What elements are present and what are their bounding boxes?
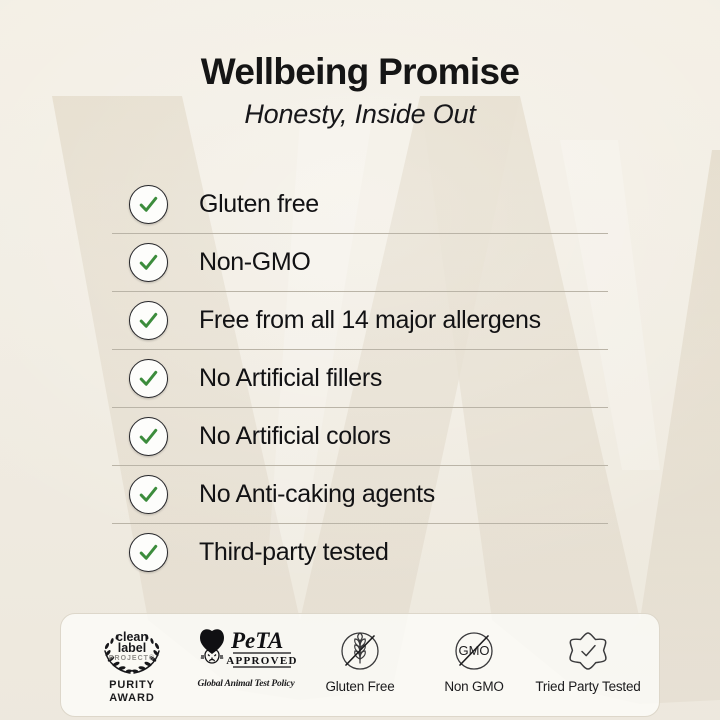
header: Wellbeing Promise Honesty, Inside Out [0, 52, 720, 130]
check-circle-icon [129, 243, 168, 282]
badge-peta-approved: PeTA APPROVED Global Animal Test Policy [189, 625, 303, 690]
wheat-crossed-out-icon [336, 625, 384, 677]
check-circle-icon [129, 359, 168, 398]
list-item-label: No Artificial colors [199, 422, 391, 451]
list-item: No Anti-caking agents [112, 466, 608, 524]
list-item-label: No Artificial fillers [199, 364, 382, 393]
list-item: No Artificial fillers [112, 350, 608, 408]
clean-label-mark-line2: label [118, 641, 147, 655]
clean-label-mark-line3: PROJECT® [109, 654, 155, 662]
badge-caption: Non GMO [444, 679, 503, 694]
no-gmo-circle-icon: GMO [450, 625, 498, 677]
list-item-label: No Anti-caking agents [199, 480, 435, 509]
list-item-label: Gluten free [199, 190, 319, 219]
check-circle-icon [129, 185, 168, 224]
badge-caption: Gluten Free [325, 679, 394, 694]
list-item-label: Third-party tested [199, 538, 389, 567]
check-circle-icon [129, 533, 168, 572]
list-item: Third-party tested [112, 524, 608, 581]
badge-caption: Global Animal Test Policy [198, 679, 295, 690]
list-item: Non-GMO [112, 234, 608, 292]
peta-wordmark: PeTA [230, 628, 283, 653]
badge-tried-party-tested: Tried Party Tested [531, 625, 645, 694]
page-title: Wellbeing Promise [0, 52, 720, 92]
peta-approved-text: APPROVED [226, 655, 298, 667]
badge-non-gmo: GMO Non GMO [417, 625, 531, 694]
clean-label-project-laurel-icon: clean label PROJECT® [96, 625, 168, 677]
badge-clean-label-purity-award: clean label PROJECT® PURITY AWARD [75, 625, 189, 706]
check-circle-icon [129, 301, 168, 340]
certification-badge-strip: clean label PROJECT® PURITY AWARD [60, 613, 660, 717]
star-check-icon [563, 625, 613, 677]
list-item-label: Non-GMO [199, 248, 310, 277]
list-item: Gluten free [112, 176, 608, 234]
badge-caption: Tried Party Tested [535, 679, 640, 694]
page-subtitle: Honesty, Inside Out [0, 100, 720, 130]
check-circle-icon [129, 417, 168, 456]
list-item-label: Free from all 14 major allergens [199, 306, 541, 335]
list-item: Free from all 14 major allergens [112, 292, 608, 350]
wellbeing-promise-graphic: Wellbeing Promise Honesty, Inside Out Gl… [0, 0, 720, 720]
badge-gluten-free: Gluten Free [303, 625, 417, 694]
check-circle-icon [129, 475, 168, 514]
badge-caption: PURITY AWARD [109, 679, 155, 706]
list-item: No Artificial colors [112, 408, 608, 466]
checklist: Gluten free Non-GMO Free from all 14 maj… [112, 176, 608, 581]
peta-bunny-heart-icon: PeTA APPROVED [192, 625, 300, 677]
